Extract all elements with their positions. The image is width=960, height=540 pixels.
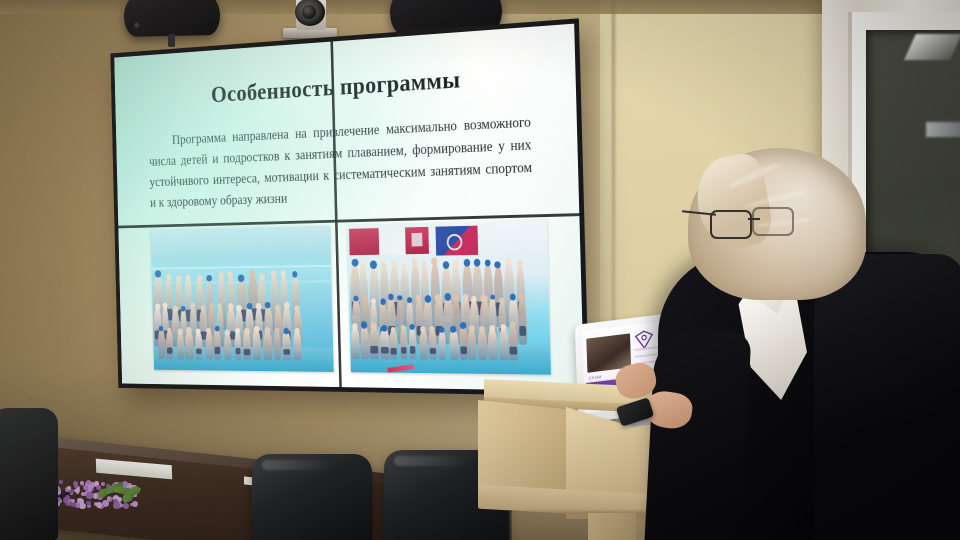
swimmer-head (196, 275, 202, 282)
swimmer-head (166, 273, 172, 280)
swimmer-head (228, 303, 234, 310)
speaker-bracket-left (168, 34, 175, 47)
slide-title: Особенность программы (115, 60, 576, 115)
swimmer-figure (478, 330, 488, 360)
video-wall-screen: Особенность программы Программа направле… (114, 24, 584, 391)
swimmer-head (489, 325, 495, 332)
eyeglasses-left-lens-icon (710, 210, 752, 239)
slide-body-text: Программа направлена на привлечение макс… (148, 112, 533, 214)
banner-blue-red (435, 226, 478, 256)
slide-photo-left (151, 226, 334, 372)
banner-red-left (349, 228, 379, 255)
banner-red-emblem (405, 227, 429, 254)
swimmer-head (294, 328, 300, 334)
swimmer-figure (517, 297, 527, 345)
swimmer-head (464, 259, 471, 266)
swimmer-figure (419, 330, 428, 360)
floret (75, 488, 80, 493)
swimmer-head (360, 262, 366, 269)
swimmer-head (453, 293, 459, 299)
swimsuit (519, 326, 526, 337)
swimsuit (244, 349, 251, 355)
conference-room-scene: Особенность программы Программа направле… (0, 0, 960, 540)
video-wall[interactable]: Особенность программы Программа направле… (110, 18, 589, 396)
swimsuit (371, 346, 379, 353)
swimmer-figure (449, 330, 459, 360)
swimmer-head (390, 260, 397, 268)
swimmer-head (292, 271, 297, 277)
swimmer-figure (369, 327, 379, 359)
swimmer-head (517, 260, 523, 267)
floret (107, 497, 111, 501)
swimmer-head (284, 302, 290, 309)
floret (86, 492, 92, 498)
swimsuit (429, 348, 436, 355)
swimmer-head (518, 293, 524, 300)
swimmer-head (421, 261, 427, 267)
swimmer-head (155, 303, 160, 309)
swimmer-head (225, 329, 230, 335)
swimmer-head (424, 296, 430, 303)
door-glass-reflection-2 (926, 122, 960, 137)
flower-arrangement (44, 474, 140, 510)
swimmer-head (450, 326, 456, 333)
swimmer-head (429, 326, 435, 332)
floret (79, 503, 86, 510)
swimmer-head (352, 323, 358, 329)
swimmer-figure (428, 330, 437, 360)
swimmer-head (283, 328, 289, 334)
eyeglasses-right-lens-icon (752, 207, 794, 236)
swimsuit (283, 349, 289, 355)
swimmer-figure (282, 331, 291, 360)
banner-emblem-icon (411, 233, 422, 247)
swimmer-head (361, 321, 367, 328)
slide-photo-row (151, 220, 551, 375)
swimmer-head (471, 295, 477, 302)
swimmer-head (244, 328, 250, 335)
swimmer-head (409, 324, 414, 330)
presentation-slide: Особенность программы Программа направле… (114, 24, 584, 391)
swimsuit (410, 346, 416, 353)
banner-white (379, 227, 406, 254)
eyeglasses-bridge-icon (748, 218, 760, 220)
slide-photo-right (347, 220, 551, 375)
swimmer-head (246, 303, 252, 310)
swimmer-head (254, 326, 260, 332)
swimmer-head (275, 305, 281, 312)
swimmer-head (163, 303, 168, 308)
swimmer-head (453, 260, 459, 267)
swimsuit (167, 348, 172, 354)
floret (113, 502, 120, 509)
swimmer-head (469, 325, 475, 331)
camera-lens-icon (302, 5, 316, 19)
chair-far-left[interactable] (0, 408, 58, 540)
swimmer-figure (158, 329, 166, 359)
swimmer-head (186, 327, 192, 334)
swimmer-figure (379, 329, 389, 359)
swimsuit (509, 346, 517, 354)
swimmer-figure (185, 331, 194, 359)
swimmer-head (181, 306, 185, 311)
speaker-led (134, 23, 139, 28)
swimsuit (215, 347, 221, 354)
swimmer-head (351, 259, 358, 267)
swimmer-head (500, 324, 506, 331)
floret (101, 482, 105, 486)
swimmer-head (271, 270, 277, 276)
swimsuit (401, 347, 407, 354)
swimmer-head (176, 275, 182, 282)
swimsuit (381, 347, 389, 354)
swimmer-head (380, 299, 386, 305)
swimmer-figure (508, 325, 518, 360)
swimmer-head (236, 305, 241, 311)
monitor-corner-mark: CKNM (589, 374, 602, 381)
swimmer-figure (205, 331, 213, 359)
swimmer-head (265, 327, 271, 334)
swimmer-head (173, 306, 179, 313)
floret (59, 480, 63, 484)
chair-highlight (262, 460, 334, 470)
chair-highlight (394, 456, 471, 466)
floret (80, 481, 84, 485)
swimmer-head (238, 274, 244, 281)
floret (83, 485, 88, 490)
swimmer-head (201, 305, 206, 311)
floret (79, 499, 84, 504)
swimmer-head (401, 263, 407, 270)
swimmer-head (256, 303, 261, 309)
presenter-arm (644, 328, 751, 540)
swimmer-head (275, 328, 280, 333)
swimsuit (196, 348, 202, 354)
swimsuit (235, 348, 240, 354)
smartphone[interactable] (616, 397, 655, 427)
swimmer-head (407, 297, 412, 303)
swimsuit (391, 348, 397, 354)
swimmer-figure (351, 327, 360, 359)
swimmer-head (400, 325, 405, 331)
swimmer-head (462, 294, 468, 301)
presenter-shoulder (814, 254, 960, 540)
swimmer-head (259, 273, 265, 280)
floret (132, 501, 138, 507)
swimmer-head (209, 303, 214, 309)
swimsuit (460, 346, 467, 354)
swimmer-figure (195, 332, 203, 360)
swimmer-head (481, 295, 488, 303)
swimmer-head (235, 328, 240, 334)
swimmer-figure (166, 331, 173, 359)
swimmer-head (510, 294, 516, 301)
swimmer-figure (499, 327, 509, 360)
swimmer-figure (293, 332, 302, 361)
swimmer-head (460, 322, 466, 329)
video-wall-bezel: Особенность программы Программа направле… (110, 18, 589, 396)
presenter (606, 148, 960, 540)
swimmer-head (214, 326, 219, 332)
flag-ring-icon (447, 234, 463, 251)
swimmer-head (416, 294, 422, 300)
pool-line (152, 265, 331, 270)
swimmer-head (431, 258, 437, 265)
swimmer-head (397, 295, 402, 301)
ceiling-speaker-left (124, 0, 221, 37)
swimmer-figure (389, 330, 397, 359)
swimmer-head (370, 261, 377, 269)
swimmer-head (177, 329, 182, 335)
swimmer-head (207, 275, 212, 281)
chair-middle[interactable] (252, 454, 372, 540)
pool-wall (151, 226, 331, 261)
